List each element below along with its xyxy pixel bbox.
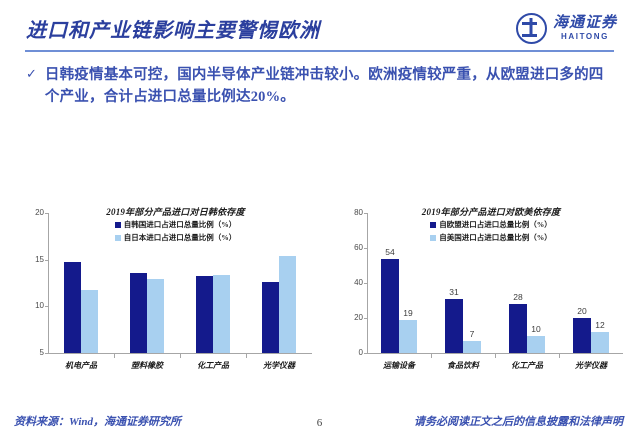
y-axis-tick-mark xyxy=(364,283,367,284)
disclaimer-note: 请务必阅读正文之后的信息披露和法律声明 xyxy=(414,413,623,429)
y-axis-tick-label: 60 xyxy=(341,243,363,252)
x-axis-category-label: 食品饮料 xyxy=(447,360,479,371)
bar xyxy=(445,299,463,353)
bar xyxy=(64,262,81,353)
bar-value-label: 31 xyxy=(449,287,458,297)
bar xyxy=(147,279,164,353)
y-axis-tick-label: 80 xyxy=(341,208,363,217)
y-axis-tick-mark xyxy=(45,213,48,214)
y-axis-tick-mark xyxy=(45,353,48,354)
x-axis-tick-mark xyxy=(559,354,560,358)
bar-value-label: 7 xyxy=(470,329,475,339)
brand-name-en: HAITONG xyxy=(561,33,609,41)
y-axis-tick-label: 20 xyxy=(341,313,363,322)
slide-header: 进口和产业链影响主要警惕欧洲 海通证券 HAITONG xyxy=(0,0,639,56)
y-axis-line xyxy=(367,213,368,353)
bar-value-label: 28 xyxy=(513,292,522,302)
bar xyxy=(130,273,147,353)
bar xyxy=(213,275,230,353)
bar-value-label: 20 xyxy=(577,306,586,316)
bar-value-label: 10 xyxy=(531,324,540,334)
haitong-emblem-icon xyxy=(516,13,547,44)
y-axis-tick-label: 5 xyxy=(22,348,44,357)
y-axis-tick-label: 40 xyxy=(341,278,363,287)
bar xyxy=(591,332,609,353)
title-divider xyxy=(25,50,614,52)
slide-root: 进口和产业链影响主要警惕欧洲 海通证券 HAITONG ✓ 日韩疫情基本可控，国… xyxy=(0,0,639,441)
page-title: 进口和产业链影响主要警惕欧洲 xyxy=(26,14,320,43)
x-axis-tick-mark xyxy=(431,354,432,358)
y-axis-tick-label: 15 xyxy=(22,255,44,264)
y-axis-tick-mark xyxy=(364,353,367,354)
y-axis-tick-label: 20 xyxy=(22,208,44,217)
x-axis-category-label: 机电产品 xyxy=(65,360,97,371)
bar xyxy=(509,304,527,353)
y-axis-tick-label: 10 xyxy=(22,301,44,310)
bar xyxy=(381,259,399,354)
bar-value-label: 54 xyxy=(385,247,394,257)
x-axis-category-label: 化工产品 xyxy=(511,360,543,371)
x-axis-tick-mark xyxy=(180,354,181,358)
bar xyxy=(399,320,417,353)
bar xyxy=(81,290,98,353)
check-icon: ✓ xyxy=(26,64,37,108)
x-axis-category-label: 光学仪器 xyxy=(263,360,295,371)
y-axis-tick-mark xyxy=(364,213,367,214)
x-axis-tick-mark xyxy=(114,354,115,358)
bar-value-label: 12 xyxy=(595,320,604,330)
x-axis-category-label: 运输设备 xyxy=(383,360,415,371)
y-axis-tick-mark xyxy=(45,306,48,307)
x-axis-category-label: 光学仪器 xyxy=(575,360,607,371)
chart-japan-korea-dependence: 2019年部分产品进口对日韩依存度 自韩国进口占进口总量比例（%） 自日本进口占… xyxy=(12,205,317,383)
chart-eu-us-dependence: 2019年部分产品进口对欧美依存度 自欧盟进口占进口总量比例（%） 自美国进口占… xyxy=(325,205,627,383)
y-axis-tick-mark xyxy=(45,260,48,261)
brand-name-cn: 海通证券 xyxy=(553,16,617,31)
bar xyxy=(196,276,213,353)
brand-logo: 海通证券 HAITONG xyxy=(516,13,617,44)
y-axis-tick-mark xyxy=(364,248,367,249)
x-axis-tick-mark xyxy=(246,354,247,358)
y-axis-line xyxy=(48,213,49,353)
x-axis-category-label: 化工产品 xyxy=(197,360,229,371)
chart-plot-area: 0204060805419运输设备317食品饮料2810化工产品2012光学仪器 xyxy=(325,205,627,383)
bullet-text: 日韩疫情基本可控，国内半导体产业链冲击较小。欧洲疫情较严重，从欧盟进口多的四个产… xyxy=(45,64,614,108)
bar-value-label: 19 xyxy=(403,308,412,318)
bar xyxy=(262,282,279,353)
chart-plot-area: 5101520机电产品塑料橡胶化工产品光学仪器 xyxy=(12,205,317,383)
x-axis-tick-mark xyxy=(495,354,496,358)
y-axis-tick-label: 0 xyxy=(341,348,363,357)
bullet-point: ✓ 日韩疫情基本可控，国内半导体产业链冲击较小。欧洲疫情较严重，从欧盟进口多的四… xyxy=(26,64,614,108)
y-axis-tick-mark xyxy=(364,318,367,319)
brand-logo-text: 海通证券 HAITONG xyxy=(553,16,617,41)
x-axis-category-label: 塑料橡胶 xyxy=(131,360,163,371)
bar xyxy=(527,336,545,354)
bar xyxy=(463,341,481,353)
bar xyxy=(279,256,296,353)
bar xyxy=(573,318,591,353)
